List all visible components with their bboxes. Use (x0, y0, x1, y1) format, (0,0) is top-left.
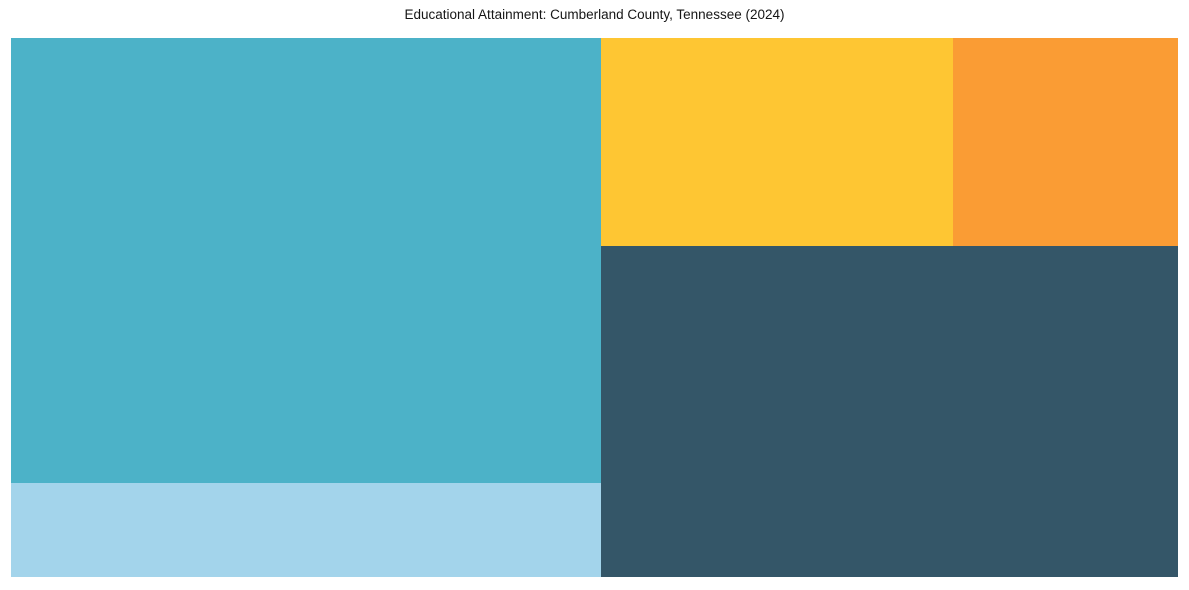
treemap-figure: Educational Attainment: Cumberland Count… (0, 0, 1189, 590)
treemap-tile-less-than-high-school[interactable]: Less than high school diploma (11, 483, 601, 577)
treemap-tile-graduate-professional-degree[interactable]: Graduate or professional degree (953, 38, 1178, 246)
treemap-tile-some-college-no-degree[interactable]: Some college, no degree (601, 246, 1178, 577)
treemap-tile-bachelors-degree[interactable]: Bachelor's degree (601, 38, 953, 246)
chart-title: Educational Attainment: Cumberland Count… (0, 7, 1189, 23)
treemap-plot-area: High school graduate (includes equivalen… (11, 38, 1178, 577)
treemap-tile-high-school-graduate[interactable]: High school graduate (includes equivalen… (11, 38, 601, 483)
